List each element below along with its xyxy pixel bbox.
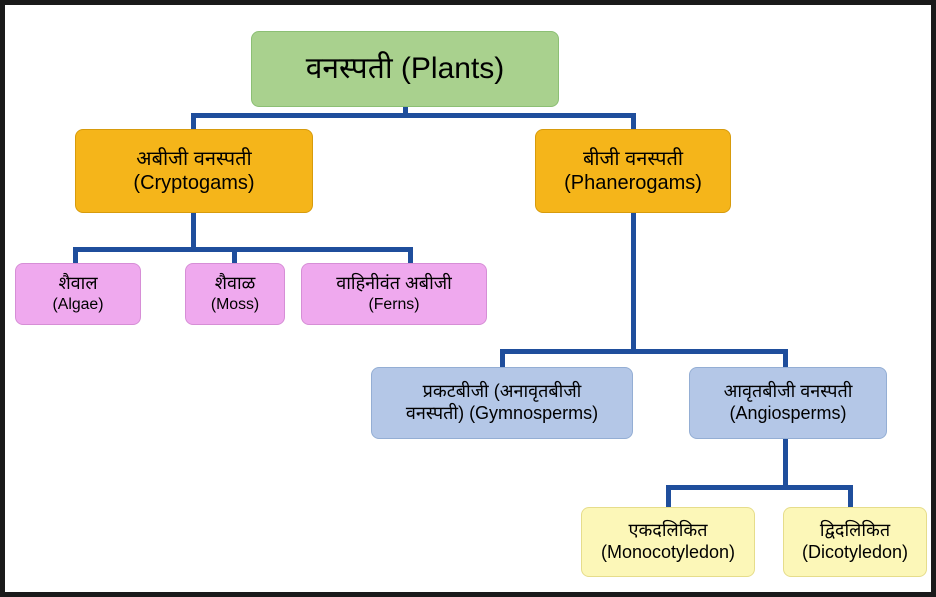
node-angiosperms-label-mr: आवृतबीजी वनस्पती (724, 381, 853, 403)
node-cryptogams-label-en: (Cryptogams) (133, 171, 254, 195)
connector-phanerogams-down (631, 211, 636, 353)
node-monocotyledon-label-en: (Monocotyledon) (601, 542, 735, 564)
node-moss[interactable]: शैवाळ (Moss) (185, 263, 285, 325)
node-cryptogams-label-mr: अबीजी वनस्पती (136, 147, 251, 171)
node-dicotyledon[interactable]: द्विदलिकित (Dicotyledon) (783, 507, 927, 577)
node-algae[interactable]: शैवाल (Algae) (15, 263, 141, 325)
node-phanerogams-label-en: (Phanerogams) (564, 171, 702, 195)
connector-cryptogams-down (191, 211, 196, 249)
node-angiosperms[interactable]: आवृतबीजी वनस्पती (Angiosperms) (689, 367, 887, 439)
node-cryptogams[interactable]: अबीजी वनस्पती (Cryptogams) (75, 129, 313, 213)
connector-angiosperms-down (783, 437, 788, 489)
node-phanerogams[interactable]: बीजी वनस्पती (Phanerogams) (535, 129, 731, 213)
node-gymnosperms-label-en: वनस्पती) (Gymnosperms) (406, 403, 598, 425)
node-dicotyledon-label-en: (Dicotyledon) (802, 542, 908, 564)
connector-to-monocotyledon (666, 485, 671, 509)
connector-level2-bus (191, 113, 631, 118)
node-plants[interactable]: वनस्पती (Plants) (251, 31, 559, 107)
node-plants-label: वनस्पती (Plants) (306, 51, 505, 88)
connector-leaf-bus (666, 485, 853, 490)
node-ferns-label-en: (Ferns) (368, 295, 419, 314)
node-gymnosperms[interactable]: प्रकटबीजी (अनावृतबीजी वनस्पती) (Gymnospe… (371, 367, 633, 439)
diagram-canvas: वनस्पती (Plants) अबीजी वनस्पती (Cryptoga… (0, 0, 936, 597)
node-ferns-label-mr: वाहिनीवंत अबीजी (336, 273, 452, 295)
node-phanerogams-label-mr: बीजी वनस्पती (583, 147, 683, 171)
connector-phanerogam-children-bus (500, 349, 788, 354)
connector-to-gymnosperms (500, 349, 505, 369)
node-moss-label-en: (Moss) (211, 295, 259, 314)
connector-to-dicotyledon (848, 485, 853, 509)
node-dicotyledon-label-mr: द्विदलिकित (820, 520, 890, 542)
node-angiosperms-label-en: (Angiosperms) (729, 403, 846, 425)
connector-cryptogam-children-bus (73, 247, 413, 252)
node-moss-label-mr: शैवाळ (215, 273, 256, 295)
node-monocotyledon[interactable]: एकदलिकित (Monocotyledon) (581, 507, 755, 577)
node-algae-label-mr: शैवाल (58, 273, 97, 295)
node-gymnosperms-label-mr: प्रकटबीजी (अनावृतबीजी (423, 381, 582, 403)
node-monocotyledon-label-mr: एकदलिकित (629, 520, 708, 542)
node-algae-label-en: (Algae) (52, 295, 103, 314)
node-ferns[interactable]: वाहिनीवंत अबीजी (Ferns) (301, 263, 487, 325)
connector-to-angiosperms (783, 349, 788, 369)
